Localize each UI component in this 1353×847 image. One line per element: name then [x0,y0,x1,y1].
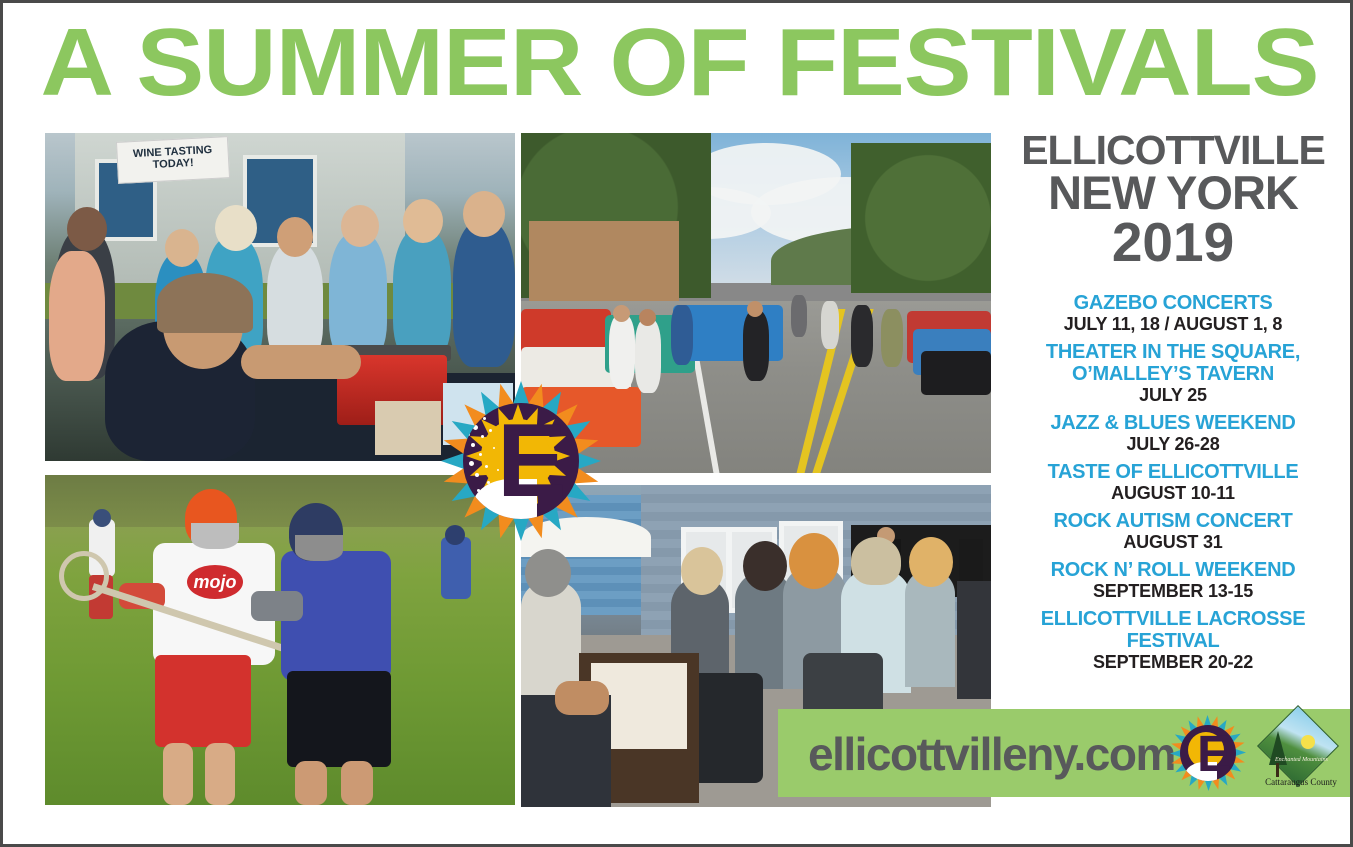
painter-arm [555,681,609,715]
person-head [639,309,656,326]
background-player [441,537,471,599]
event-item: ROCK AUTISM CONCERTAUGUST 31 [1003,510,1343,552]
event-item: ELLICOTTVILLE LACROSSE FESTIVALSEPTEMBER… [1003,608,1343,672]
event-item: THEATER IN THE SQUARE, O’MALLEY’S TAVERN… [1003,341,1343,405]
audience-head [525,549,571,597]
photo-taste-of-ellicottville: WINE TASTING TODAY! TASTE OF ELLICOTTVIL… [45,133,515,461]
classic-car [921,351,991,395]
player-leg [295,761,327,805]
logo-star [481,435,484,438]
event-name: TASTE OF ELLICOTTVILLE [1003,461,1343,483]
person-head [341,205,379,247]
logo-star [479,453,482,456]
player-black-shorts [287,671,391,767]
event-date: JULY 26-28 [1003,434,1343,454]
event-name: GAZEBO CONCERTS [1003,292,1343,314]
helmet-facemask [191,523,239,549]
event-item: TASTE OF ELLICOTTVILLEAUGUST 10-11 [1003,461,1343,503]
audience-head [789,533,839,589]
person-head [215,205,257,251]
logo-star [471,443,475,447]
person [393,229,451,361]
lacrosse-stick-head [59,551,109,601]
event-date: AUGUST 31 [1003,532,1343,552]
logo-star [487,481,490,484]
jersey-logo-text: mojo [187,567,243,597]
audience-head [909,537,953,587]
logo-star [485,465,488,468]
helmet-facemask [295,535,343,561]
sign-text: WINE TASTING TODAY! [117,143,228,173]
photo-rock-n-roll-weekend: ROCK N’ ROLL WEEKEND [521,133,991,473]
person [49,251,105,381]
person-head [613,305,630,322]
ellicottville-sun-logo-small: E [1170,715,1246,791]
location-year: 2019 [1003,217,1343,268]
folding-chair [803,653,883,717]
event-name: ROCK AUTISM CONCERT [1003,510,1343,532]
vendor-arm [241,345,361,379]
event-name: THEATER IN THE SQUARE, O’MALLEY’S TAVERN [1003,341,1343,385]
person [609,315,635,389]
logo-letter-e: E [497,409,566,513]
player-glove [251,591,303,621]
tree-canopy-right [851,143,991,293]
event-item: JAZZ & BLUES WEEKENDJULY 26-28 [1003,412,1343,454]
logo-sun-icon [1301,735,1315,749]
tree-trunk [1276,763,1279,777]
info-column: ELLICOTTVILLE NEW YORK 2019 GAZEBO CONCE… [1003,131,1343,679]
person [635,319,661,393]
background-player-helmet [445,525,465,545]
person-head [277,217,313,257]
person [671,305,693,365]
person [329,233,387,361]
location-line-1: ELLICOTTVILLE [1003,131,1343,169]
event-item: GAZEBO CONCERTSJULY 11, 18 / AUGUST 1, 8 [1003,292,1343,334]
page-title: A SUMMER OF FESTIVALS [0,9,1353,119]
vendor-hair [157,273,253,333]
person [851,305,873,367]
county-tagline: Enchanted Mountains [1275,757,1328,763]
supply-box [375,401,441,455]
cattaraugus-county-logo: Enchanted Mountains Cattaraugus County [1255,715,1347,793]
person [453,221,515,367]
website-url[interactable]: ellicottvilleny.com [808,727,1175,781]
player-leg [341,761,373,805]
audience-head [681,547,723,595]
event-date: JULY 25 [1003,385,1343,405]
event-name: ELLICOTTVILLE LACROSSE FESTIVAL [1003,608,1343,652]
logo-star [489,429,492,432]
event-date: AUGUST 10-11 [1003,483,1343,503]
person [881,309,903,367]
audience-person [957,581,991,699]
logo-star [475,473,479,477]
event-date: SEPTEMBER 20-22 [1003,652,1343,672]
person-head [463,191,505,237]
person [743,311,769,381]
audience-hat [851,537,901,585]
logo-star [473,425,478,430]
logo-star [483,417,486,420]
person-head [165,229,199,267]
player-leg [163,743,193,805]
location-line-2: NEW YORK [1003,171,1343,215]
person-head [403,199,443,243]
person-head [747,301,763,317]
event-name: JAZZ & BLUES WEEKEND [1003,412,1343,434]
event-date: SEPTEMBER 13-15 [1003,581,1343,601]
speaker [959,539,983,585]
photo-lacrosse-festival: mojo ELLICOTTVILLE LACROSSE FESTIVAL [45,475,515,805]
audience-head [743,541,787,591]
player-leg [205,743,235,805]
background-player-helmet [93,509,111,527]
logo-star [467,433,470,436]
person [791,295,807,337]
logo-star [493,447,495,449]
person-head [67,207,107,251]
events-list: GAZEBO CONCERTSJULY 11, 18 / AUGUST 1, 8… [1003,292,1343,672]
street-building [529,221,679,303]
event-date: JULY 11, 18 / AUGUST 1, 8 [1003,314,1343,334]
event-item: ROCK N’ ROLL WEEKENDSEPTEMBER 13-15 [1003,559,1343,601]
wine-tasting-sign: WINE TASTING TODAY! [116,136,230,184]
person [821,301,839,349]
festival-poster: A SUMMER OF FESTIVALS WINE TASTING TODAY… [0,0,1353,847]
event-name: ROCK N’ ROLL WEEKEND [1003,559,1343,581]
logo-star [477,489,480,492]
logo-star [469,461,474,466]
player-red-shorts [155,655,251,747]
ellicottville-sun-logo: E [441,381,601,541]
county-name: Cattaraugus County [1259,777,1343,787]
logo-letter-e: E [1197,728,1231,779]
